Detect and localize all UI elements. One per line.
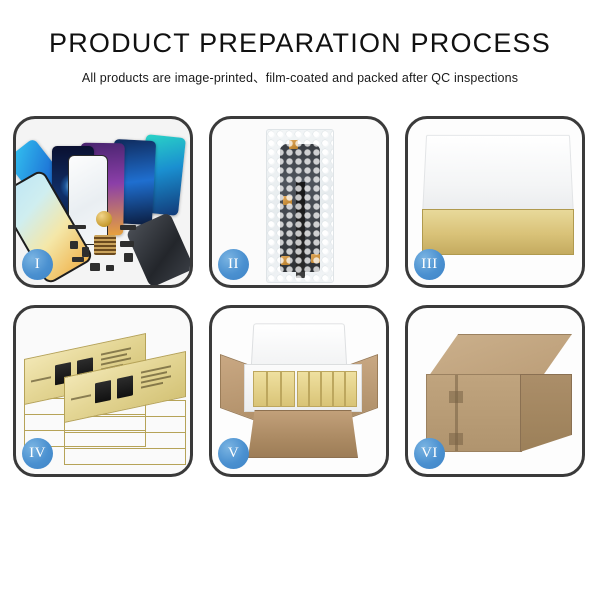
process-step-panel-5: V	[209, 305, 389, 477]
box-print-brand-rear	[31, 376, 51, 382]
step-badge-5: V	[218, 438, 249, 469]
stacked-box-front-3	[64, 432, 186, 449]
step-badge-3: III	[414, 249, 445, 280]
carton-front-panel	[248, 410, 358, 458]
part-square-4	[120, 241, 134, 247]
stacked-box-front-4	[64, 448, 186, 465]
connector-tab-top	[289, 140, 298, 149]
spare-parts-cluster	[68, 217, 154, 279]
inner-yellow-box-1	[253, 371, 267, 407]
process-step-panel-3: III	[405, 116, 585, 288]
step-badge-6: VI	[414, 438, 445, 469]
step-badge-1: I	[22, 249, 53, 280]
process-step-panel-6: VI	[405, 305, 585, 477]
sealed-carton-side	[520, 374, 572, 452]
box-print-line-f4	[141, 382, 163, 388]
step-badge-2: II	[218, 249, 249, 280]
inner-yellow-box-5	[309, 371, 321, 407]
bubble-wrap-bag	[266, 129, 334, 283]
connector-tab-left	[281, 256, 290, 265]
process-step-panel-2: II	[209, 116, 389, 288]
kraft-box-base	[422, 209, 574, 255]
part-square-7	[106, 265, 114, 271]
inner-yellow-box-4	[297, 371, 309, 407]
part-square-5	[124, 253, 133, 262]
inner-yellow-box-6	[321, 371, 333, 407]
box-label-dark-front-1	[95, 380, 111, 403]
connector-tab-mid	[283, 196, 292, 205]
page-subtitle: All products are image-printed、film-coat…	[0, 67, 600, 86]
box-label-dark-front-2	[117, 375, 133, 398]
step-badge-4: IV	[22, 438, 53, 469]
part-strip-1	[68, 225, 86, 229]
part-strip-2	[120, 225, 136, 230]
part-square-1	[70, 241, 78, 249]
speaker-part-icon	[96, 211, 112, 227]
part-square-3	[72, 257, 84, 262]
box-print-brand-front	[71, 394, 91, 400]
inner-yellow-box-7	[333, 371, 345, 407]
page-header: PRODUCT PREPARATION PROCESS All products…	[0, 0, 600, 86]
process-step-panel-4: IV	[13, 305, 193, 477]
sealed-carton-front	[426, 374, 522, 452]
page-title: PRODUCT PREPARATION PROCESS	[0, 30, 600, 57]
inner-yellow-box-3	[281, 371, 295, 407]
carton-tab-upper	[449, 391, 463, 403]
box-stack	[24, 328, 188, 460]
part-square-2	[82, 247, 89, 257]
inner-yellow-box-8	[345, 371, 357, 407]
inner-yellow-box-2	[267, 371, 281, 407]
process-step-grid: I II III	[13, 116, 587, 477]
foam-cooler-lid	[251, 323, 348, 370]
foam-cooler-body	[244, 364, 362, 412]
part-square-6	[90, 263, 100, 271]
flex-cable	[296, 182, 305, 278]
connector-chip	[94, 235, 116, 255]
white-box-lid	[422, 135, 574, 220]
carton-tab-lower	[449, 433, 463, 445]
process-step-panel-1: I	[13, 116, 193, 288]
connector-tab-right	[311, 254, 320, 263]
